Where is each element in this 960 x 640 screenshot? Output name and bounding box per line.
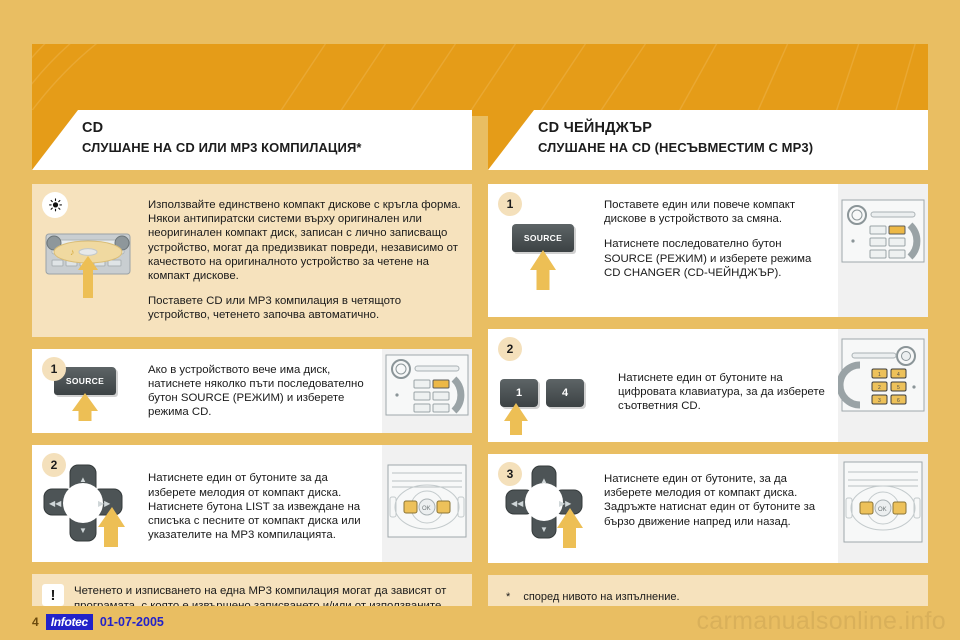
step-number: 1: [498, 192, 522, 216]
right-step-2: 2 1 4 Натиснете един от бутоните на цифр…: [488, 329, 928, 442]
dashboard-photo-art: [838, 184, 928, 312]
right-step-1: 1 SOURCE Поставете един или повече компа…: [488, 184, 928, 317]
steering-photo-art: OK: [838, 454, 928, 558]
svg-text:▲: ▲: [540, 476, 548, 485]
svg-text:▶▶: ▶▶: [98, 499, 111, 508]
steering-wheel-photo: OK: [382, 445, 472, 562]
radio-cd-art: ♪: [32, 212, 144, 324]
svg-text:▼: ▼: [540, 525, 548, 534]
cd-insert-illustration: ♪: [32, 184, 144, 337]
left-header-subtitle: СЛУШАНЕ НА CD ИЛИ MP3 КОМПИЛАЦИЯ*: [82, 139, 362, 157]
svg-text:2: 2: [878, 385, 881, 391]
left-header-title: CD: [82, 119, 362, 137]
footer-date: 01-07-2005: [100, 615, 164, 629]
svg-text:4: 4: [897, 372, 900, 378]
footnote-text: според нивото на изпълнение.: [523, 591, 679, 603]
right-section-header: CD ЧЕЙНДЖЪР СЛУШАНЕ НА CD (НЕСЪВМЕСТИМ С…: [488, 110, 928, 170]
keypad-photo-art: 14 25 36: [838, 329, 928, 437]
left-column: CD СЛУШАНЕ НА CD ИЛИ MP3 КОМПИЛАЦИЯ*: [32, 110, 472, 602]
svg-text:6: 6: [897, 398, 900, 404]
steering-photo-art: OK: [382, 445, 472, 557]
svg-text:3: 3: [878, 398, 881, 404]
decorative-top-band: [32, 44, 928, 116]
steering-wheel-photo: OK: [838, 454, 928, 563]
step-paragraph-2: Натиснете последователно бутон SOURCE (Р…: [604, 237, 828, 280]
step-text: Ако в устройството вече има диск, натисн…: [148, 363, 372, 420]
svg-text:▼: ▼: [79, 526, 87, 535]
tip-bulb-icon: [42, 192, 68, 218]
bulb-glyph: [48, 198, 63, 213]
intro-paragraph-2: Поставете CD или MP3 компилация в четящо…: [148, 294, 462, 322]
svg-text:◀◀: ◀◀: [49, 499, 62, 508]
page-number: 4: [32, 615, 39, 629]
spacer: [32, 170, 472, 184]
header-corner-wedge: [488, 110, 534, 170]
svg-text:◀◀: ◀◀: [511, 499, 524, 508]
intro-paragraph-1: Използвайте единствено компакт дискове с…: [148, 198, 462, 283]
header-corner-wedge: [32, 110, 78, 170]
left-intro-panel: ♪ Използвайте единствено компакт дискове…: [32, 184, 472, 337]
step-number: 1: [42, 357, 66, 381]
svg-text:OK: OK: [422, 506, 431, 512]
left-step-2-text: Натиснете един от бутоните за да изберет…: [144, 445, 382, 562]
step-number: 2: [498, 337, 522, 361]
right-step-3-text: Натиснете един от бутоните, за да избере…: [600, 454, 838, 563]
spacer: [488, 170, 928, 184]
step-text: Натиснете един от бутоните за да изберет…: [148, 471, 372, 542]
arc-pattern: [32, 44, 928, 116]
svg-text:▲: ▲: [79, 475, 87, 484]
dashboard-photo-art: [382, 349, 472, 421]
infotec-logo: Infotec: [46, 614, 93, 630]
left-step-2: 2 ▲ ▼ ◀◀ ▶▶: [32, 445, 472, 562]
dashboard-keypad-photo: 14 25 36: [838, 329, 928, 442]
svg-text:♪: ♪: [70, 247, 75, 257]
step-paragraph-1: Поставете един или повече компакт дисков…: [604, 198, 828, 226]
step-text: Натиснете един от бутоните на цифровата …: [618, 371, 828, 414]
right-header-title: CD ЧЕЙНДЖЪР: [538, 119, 813, 137]
left-section-header: CD СЛУШАНЕ НА CD ИЛИ MP3 КОМПИЛАЦИЯ*: [32, 110, 472, 170]
svg-text:OK: OK: [878, 507, 887, 513]
svg-text:▶▶: ▶▶: [559, 499, 572, 508]
left-step-1-text: Ако в устройството вече има диск, натисн…: [144, 349, 382, 434]
dashboard-source-photo: [838, 184, 928, 317]
right-step-3: 3 ▲ ▼ ◀◀ ▶▶: [488, 454, 928, 563]
step-number: 3: [498, 462, 522, 486]
exclamation-icon: !: [42, 584, 64, 606]
dashboard-source-photo: [382, 349, 472, 434]
svg-text:1: 1: [878, 372, 881, 378]
step-text: Натиснете един от бутоните, за да избере…: [604, 472, 828, 529]
right-column: CD ЧЕЙНДЖЪР СЛУШАНЕ НА CD (НЕСЪВМЕСТИМ С…: [488, 110, 928, 602]
footnote-marker: *: [506, 591, 510, 603]
left-step-1: 1 SOURCE Ако в устройството вече има дис…: [32, 349, 472, 434]
right-step-1-text: Поставете един или повече компакт дисков…: [600, 184, 838, 317]
manual-page: CD СЛУШАНЕ НА CD ИЛИ MP3 КОМПИЛАЦИЯ*: [0, 0, 960, 640]
left-intro-text: Използвайте единствено компакт дискове с…: [144, 184, 472, 337]
right-step-2-text: Натиснете един от бутоните на цифровата …: [618, 329, 838, 442]
page-footer: 4 Infotec 01-07-2005: [32, 614, 164, 630]
content-columns: CD СЛУШАНЕ НА CD ИЛИ MP3 КОМПИЛАЦИЯ*: [32, 110, 928, 602]
right-header-subtitle: СЛУШАНЕ НА CD (НЕСЪВМЕСТИМ С MP3): [538, 139, 813, 157]
svg-text:5: 5: [897, 385, 900, 391]
site-watermark: carmanualsonline.info: [696, 607, 946, 636]
